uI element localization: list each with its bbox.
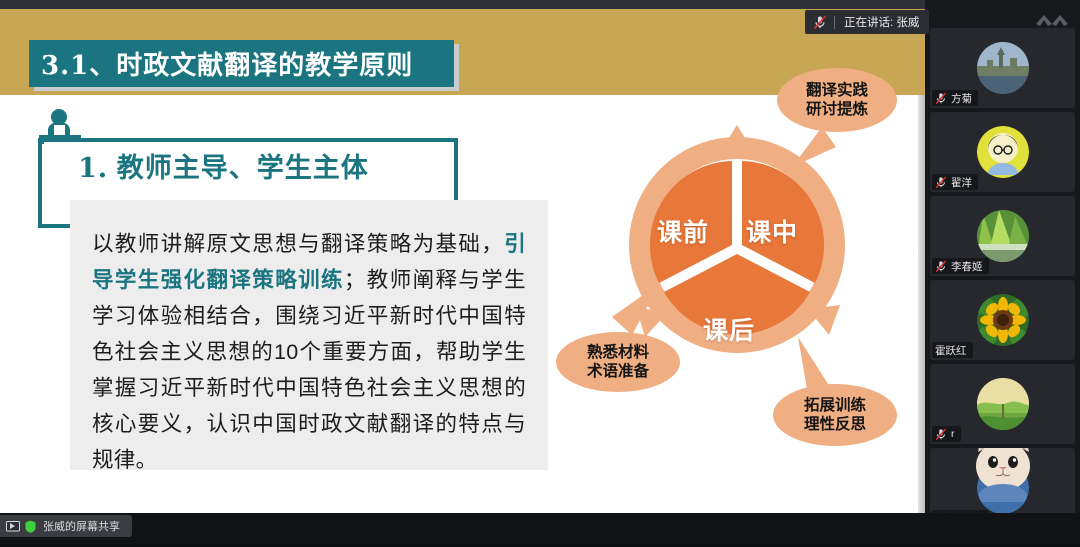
diagram-segment-label-post: 课后 xyxy=(703,311,755,347)
zoom-meeting-window: 3.1、时政文献翻译的教学原则 1. 教师主导、学生主体 以教师讲解原文思想与翻… xyxy=(0,0,1080,547)
mic-muted-icon xyxy=(935,260,947,273)
callout-right-line2: 理性反思 xyxy=(775,415,895,434)
participant-name: 方菊 xyxy=(951,91,972,106)
slide-top-strip xyxy=(0,0,925,9)
cycle-diagram: 课前 课中 课后 翻译实践 研讨提炼 熟悉材料 术语准备 拓展训练 理性反思 xyxy=(540,55,925,455)
bottom-status-bar: 张威的屏幕共享 xyxy=(0,513,1080,547)
avatar xyxy=(977,126,1029,178)
body-part-2: ；教师阐释与学生学习体验相结合，围绕习近平新时代中国特色社会主义思想的10个重要… xyxy=(92,268,526,472)
participant-namebar: 方菊 xyxy=(932,90,978,106)
participant-namebar: 翟洋 xyxy=(932,174,978,190)
callout-left-line1: 熟悉材料 xyxy=(558,343,678,362)
participant-tile[interactable]: 方菊 xyxy=(930,28,1075,108)
participant-tile[interactable]: r xyxy=(930,364,1075,444)
slide-right-edge xyxy=(918,95,925,513)
subtitle-text: 教师主导、学生主体 xyxy=(117,153,369,183)
participant-video-strip[interactable]: 方菊 xyxy=(925,0,1080,513)
participant-tile[interactable]: 李春姬 xyxy=(930,196,1075,276)
participant-namebar: 霍跃红 xyxy=(932,342,973,358)
active-speaker-indicator: 正在讲话: 张威 xyxy=(805,10,929,34)
callout-top-line1: 翻译实践 xyxy=(777,81,897,100)
mic-muted-icon xyxy=(935,428,947,441)
slide-title-bar: 3.1、时政文献翻译的教学原则 xyxy=(29,40,454,87)
avatar xyxy=(977,210,1029,262)
diagram-callout-top: 翻译实践 研讨提炼 xyxy=(777,81,897,119)
screen-share-status[interactable]: 张威的屏幕共享 xyxy=(0,515,132,537)
avatar xyxy=(977,294,1029,346)
mic-muted-icon xyxy=(813,15,827,30)
slide-subtitle: 1. 教师主导、学生主体 xyxy=(78,146,369,185)
participant-tile[interactable]: 霍跃红 xyxy=(930,280,1075,360)
participant-tile[interactable]: 翟洋 xyxy=(930,112,1075,192)
diagram-callout-right: 拓展训练 理性反思 xyxy=(775,396,895,434)
monitor-share-icon xyxy=(6,520,20,532)
callout-left-line2: 术语准备 xyxy=(558,362,678,381)
diagram-callout-left: 熟悉材料 术语准备 xyxy=(558,343,678,381)
slide-body-paragraph: 以教师讲解原文思想与翻译策略为基础，引导学生强化翻译策略训练；教师阐释与学生学习… xyxy=(92,226,526,478)
green-shield-icon xyxy=(25,520,36,533)
page-title: 3.1、时政文献翻译的教学原则 xyxy=(29,45,413,82)
active-speaker-label: 正在讲话: 张威 xyxy=(844,14,919,30)
diagram-segment-label-pre: 课前 xyxy=(657,213,709,249)
cat-photo-overlay xyxy=(966,448,1041,502)
participant-name: 霍跃红 xyxy=(935,343,967,358)
mic-muted-icon xyxy=(935,176,947,189)
avatar xyxy=(977,378,1029,430)
pill-divider xyxy=(834,16,835,29)
shared-slide: 3.1、时政文献翻译的教学原则 1. 教师主导、学生主体 以教师讲解原文思想与翻… xyxy=(0,0,925,513)
diagram-segment-label-mid: 课中 xyxy=(746,213,798,249)
participant-name: r xyxy=(951,428,955,440)
screen-share-label: 张威的屏幕共享 xyxy=(43,518,120,534)
callout-top-line2: 研讨提炼 xyxy=(777,100,897,119)
participant-namebar: r xyxy=(932,426,961,442)
subtitle-number: 1. xyxy=(78,153,108,184)
participant-name: 李春姬 xyxy=(951,259,983,274)
slide-body-textbox: 以教师讲解原文思想与翻译策略为基础，引导学生强化翻译策略训练；教师阐释与学生学习… xyxy=(70,200,548,470)
callout-right-line1: 拓展训练 xyxy=(775,396,895,415)
chevron-collapse-icon[interactable] xyxy=(1030,10,1074,30)
participant-name: 翟洋 xyxy=(951,175,972,190)
mic-muted-icon xyxy=(935,92,947,105)
body-part-1: 以教师讲解原文思想与翻译策略为基础， xyxy=(92,232,504,256)
avatar xyxy=(977,42,1029,94)
participant-namebar: 李春姬 xyxy=(932,258,989,274)
